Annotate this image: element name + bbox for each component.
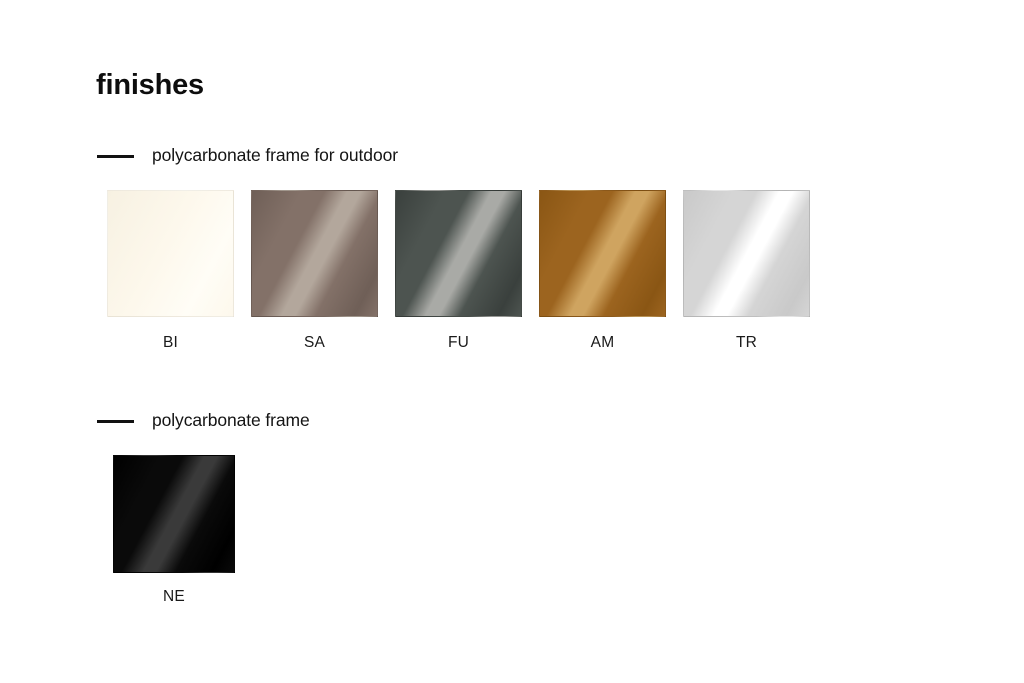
swatch-label: BI: [163, 335, 178, 351]
swatch-chip-am[interactable]: [539, 190, 666, 317]
dash-rule-icon: [97, 155, 134, 158]
swatch-label: NE: [163, 589, 185, 605]
swatch-chip-fu[interactable]: [395, 190, 522, 317]
swatch-row-outdoor: BI SA FU AM TR: [107, 190, 810, 351]
swatch-cell[interactable]: TR: [683, 190, 810, 351]
page-title: finishes: [96, 71, 204, 100]
section-heading-outdoor: polycarbonate frame for outdoor: [97, 146, 398, 166]
dash-rule-icon: [97, 420, 134, 423]
swatch-chip-sa[interactable]: [251, 190, 378, 317]
swatch-cell[interactable]: SA: [251, 190, 378, 351]
swatch-cell[interactable]: AM: [539, 190, 666, 351]
swatch-chip-ne[interactable]: [113, 455, 235, 573]
section-heading-label: polycarbonate frame: [152, 412, 310, 430]
finishes-page: finishes polycarbonate frame for outdoor…: [0, 0, 1024, 683]
swatch-label: AM: [591, 335, 615, 351]
section-heading-label: polycarbonate frame for outdoor: [152, 147, 398, 165]
swatch-chip-tr[interactable]: [683, 190, 810, 317]
section-heading-frame: polycarbonate frame: [97, 411, 310, 431]
swatch-cell[interactable]: NE: [113, 455, 235, 605]
swatch-chip-bi[interactable]: [107, 190, 234, 317]
swatch-label: FU: [448, 335, 469, 351]
swatch-label: TR: [736, 335, 757, 351]
swatch-cell[interactable]: BI: [107, 190, 234, 351]
swatch-row-frame: NE: [113, 455, 235, 605]
swatch-cell[interactable]: FU: [395, 190, 522, 351]
swatch-label: SA: [304, 335, 325, 351]
